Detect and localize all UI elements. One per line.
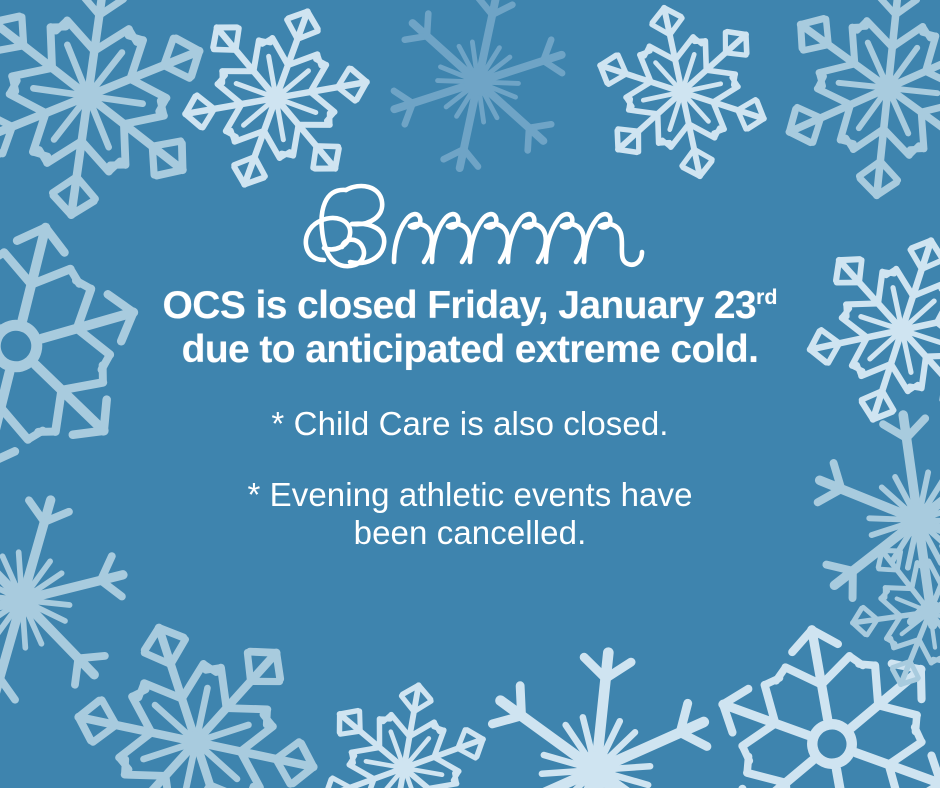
- snowflake-burst-mid-right: [802, 401, 940, 639]
- snowflake-dendrite-top-center-l: [155, 0, 397, 217]
- snowflake-dendrite-top-right: [765, 0, 940, 207]
- snowflake-dendrite-bottom-cl: [304, 670, 505, 788]
- snowflake-dendrite-bottom-left: [41, 589, 352, 788]
- snowflake-burst-bottom-center: [470, 641, 721, 788]
- snowflake-burst-top-center: [377, 0, 580, 186]
- snowflake-dendrite-top-left: [0, 0, 228, 232]
- snowflake-ring-mid-left: [0, 196, 171, 495]
- snowflake-dendrite-mid-right: [780, 211, 940, 450]
- snowflake-background-layer: [0, 0, 940, 788]
- winter-closure-announcement-poster: OCS is closed Friday, January 23rd due t…: [0, 0, 940, 788]
- snowflake-dendrite-top-center-r: [577, 0, 787, 195]
- snowflake-burst-mid-left: [0, 472, 147, 727]
